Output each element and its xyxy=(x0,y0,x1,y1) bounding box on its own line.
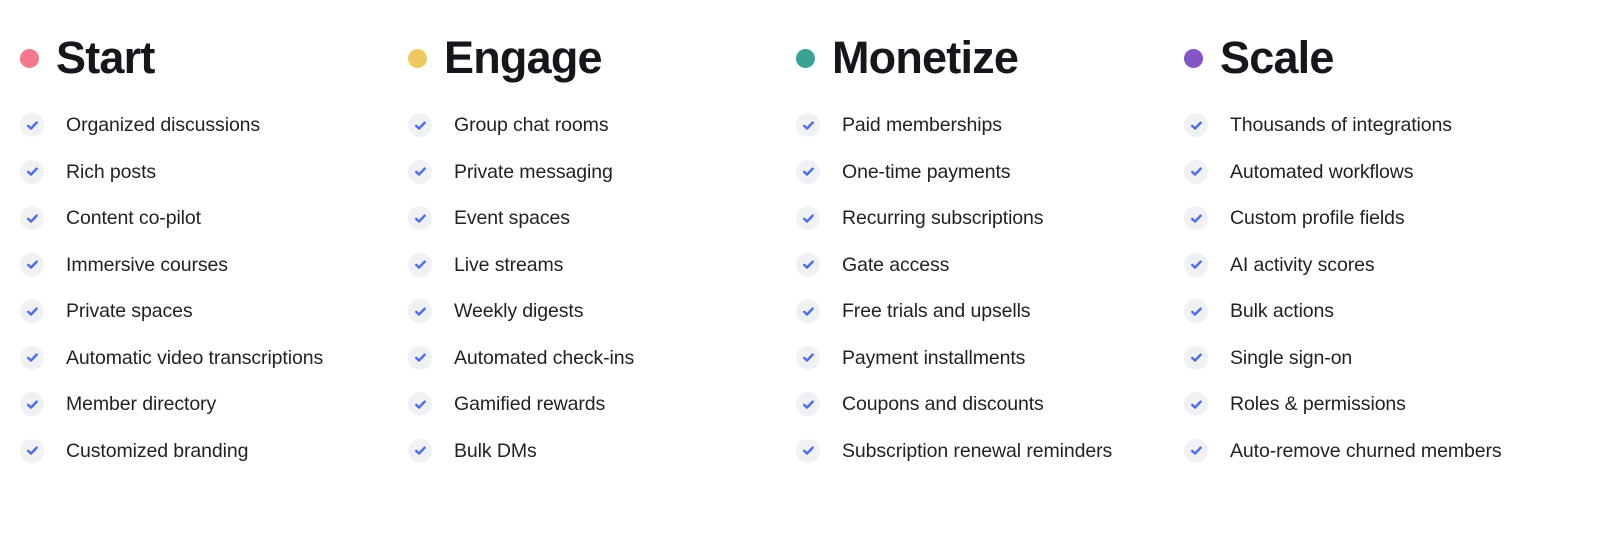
feature-label: Coupons and discounts xyxy=(842,392,1044,416)
list-item: Automatic video transcriptions xyxy=(20,335,388,382)
check-icon xyxy=(1184,392,1208,416)
feature-label: Subscription renewal reminders xyxy=(842,439,1112,463)
feature-columns-board: StartOrganized discussionsRich postsCont… xyxy=(0,0,1600,545)
check-icon xyxy=(408,206,432,230)
feature-list-engage: Group chat roomsPrivate messagingEvent s… xyxy=(408,102,776,474)
list-item: Bulk DMs xyxy=(408,428,776,475)
list-item: Organized discussions xyxy=(20,102,388,149)
check-icon xyxy=(1184,346,1208,370)
feature-label: Paid memberships xyxy=(842,113,1002,137)
list-item: Rich posts xyxy=(20,149,388,196)
list-item: Recurring subscriptions xyxy=(796,195,1164,242)
check-icon xyxy=(20,206,44,230)
feature-label: Custom profile fields xyxy=(1230,206,1405,230)
feature-label: Weekly digests xyxy=(454,299,583,323)
check-icon xyxy=(1184,439,1208,463)
feature-label: Live streams xyxy=(454,253,563,277)
check-icon xyxy=(408,392,432,416)
feature-label: Payment installments xyxy=(842,346,1025,370)
column-title-monetize: Monetize xyxy=(832,33,1018,83)
list-item: Payment installments xyxy=(796,335,1164,382)
feature-list-monetize: Paid membershipsOne-time paymentsRecurri… xyxy=(796,102,1164,474)
list-item: Auto-remove churned members xyxy=(1184,428,1552,475)
column-header-scale: Scale xyxy=(1184,28,1552,88)
feature-list-scale: Thousands of integrationsAutomated workf… xyxy=(1184,102,1552,474)
list-item: AI activity scores xyxy=(1184,242,1552,289)
list-item: Group chat rooms xyxy=(408,102,776,149)
feature-label: Content co-pilot xyxy=(66,206,201,230)
list-item: Paid memberships xyxy=(796,102,1164,149)
list-item: Immersive courses xyxy=(20,242,388,289)
check-icon xyxy=(1184,113,1208,137)
check-icon xyxy=(408,113,432,137)
column-header-start: Start xyxy=(20,28,388,88)
check-icon xyxy=(796,160,820,184)
feature-label: Automated workflows xyxy=(1230,160,1413,184)
column-header-engage: Engage xyxy=(408,28,776,88)
feature-label: Bulk actions xyxy=(1230,299,1334,323)
feature-label: Gate access xyxy=(842,253,949,277)
feature-label: Event spaces xyxy=(454,206,570,230)
check-icon xyxy=(408,253,432,277)
check-icon xyxy=(1184,299,1208,323)
list-item: Gamified rewards xyxy=(408,381,776,428)
list-item: Private messaging xyxy=(408,149,776,196)
list-item: Custom profile fields xyxy=(1184,195,1552,242)
check-icon xyxy=(408,439,432,463)
check-icon xyxy=(20,439,44,463)
check-icon xyxy=(796,206,820,230)
column-dot-monetize xyxy=(796,49,815,68)
feature-label: One-time payments xyxy=(842,160,1010,184)
feature-column-start: StartOrganized discussionsRich postsCont… xyxy=(0,0,388,474)
check-icon xyxy=(20,253,44,277)
check-icon xyxy=(1184,253,1208,277)
check-icon xyxy=(1184,206,1208,230)
feature-label: AI activity scores xyxy=(1230,253,1375,277)
list-item: Subscription renewal reminders xyxy=(796,428,1164,475)
check-icon xyxy=(408,346,432,370)
check-icon xyxy=(796,113,820,137)
check-icon xyxy=(20,299,44,323)
feature-label: Bulk DMs xyxy=(454,439,537,463)
feature-label: Auto-remove churned members xyxy=(1230,439,1502,463)
check-icon xyxy=(796,392,820,416)
list-item: Single sign-on xyxy=(1184,335,1552,382)
feature-column-engage: EngageGroup chat roomsPrivate messagingE… xyxy=(388,0,776,474)
list-item: Event spaces xyxy=(408,195,776,242)
check-icon xyxy=(1184,160,1208,184)
column-title-start: Start xyxy=(56,33,155,83)
feature-label: Group chat rooms xyxy=(454,113,608,137)
check-icon xyxy=(796,299,820,323)
list-item: Content co-pilot xyxy=(20,195,388,242)
check-icon xyxy=(20,392,44,416)
feature-label: Private spaces xyxy=(66,299,193,323)
list-item: Private spaces xyxy=(20,288,388,335)
feature-label: Gamified rewards xyxy=(454,392,605,416)
feature-label: Immersive courses xyxy=(66,253,228,277)
feature-label: Automatic video transcriptions xyxy=(66,346,323,370)
check-icon xyxy=(408,299,432,323)
check-icon xyxy=(796,439,820,463)
column-title-engage: Engage xyxy=(444,33,602,83)
check-icon xyxy=(20,160,44,184)
list-item: Bulk actions xyxy=(1184,288,1552,335)
column-dot-scale xyxy=(1184,49,1203,68)
list-item: Weekly digests xyxy=(408,288,776,335)
feature-column-monetize: MonetizePaid membershipsOne-time payment… xyxy=(776,0,1164,474)
list-item: Roles & permissions xyxy=(1184,381,1552,428)
list-item: Member directory xyxy=(20,381,388,428)
list-item: Live streams xyxy=(408,242,776,289)
column-title-scale: Scale xyxy=(1220,33,1334,83)
feature-label: Member directory xyxy=(66,392,216,416)
list-item: Gate access xyxy=(796,242,1164,289)
list-item: Automated check-ins xyxy=(408,335,776,382)
feature-label: Free trials and upsells xyxy=(842,299,1030,323)
feature-label: Customized branding xyxy=(66,439,248,463)
list-item: Thousands of integrations xyxy=(1184,102,1552,149)
column-dot-start xyxy=(20,49,39,68)
feature-list-start: Organized discussionsRich postsContent c… xyxy=(20,102,388,474)
feature-label: Organized discussions xyxy=(66,113,260,137)
check-icon xyxy=(408,160,432,184)
feature-column-scale: ScaleThousands of integrationsAutomated … xyxy=(1164,0,1552,474)
list-item: Coupons and discounts xyxy=(796,381,1164,428)
column-header-monetize: Monetize xyxy=(796,28,1164,88)
feature-label: Single sign-on xyxy=(1230,346,1352,370)
feature-label: Rich posts xyxy=(66,160,156,184)
check-icon xyxy=(796,253,820,277)
list-item: Customized branding xyxy=(20,428,388,475)
feature-label: Automated check-ins xyxy=(454,346,634,370)
feature-label: Private messaging xyxy=(454,160,613,184)
check-icon xyxy=(20,346,44,370)
feature-label: Recurring subscriptions xyxy=(842,206,1043,230)
feature-label: Thousands of integrations xyxy=(1230,113,1452,137)
check-icon xyxy=(20,113,44,137)
feature-label: Roles & permissions xyxy=(1230,392,1406,416)
list-item: Automated workflows xyxy=(1184,149,1552,196)
list-item: Free trials and upsells xyxy=(796,288,1164,335)
list-item: One-time payments xyxy=(796,149,1164,196)
column-dot-engage xyxy=(408,49,427,68)
check-icon xyxy=(796,346,820,370)
